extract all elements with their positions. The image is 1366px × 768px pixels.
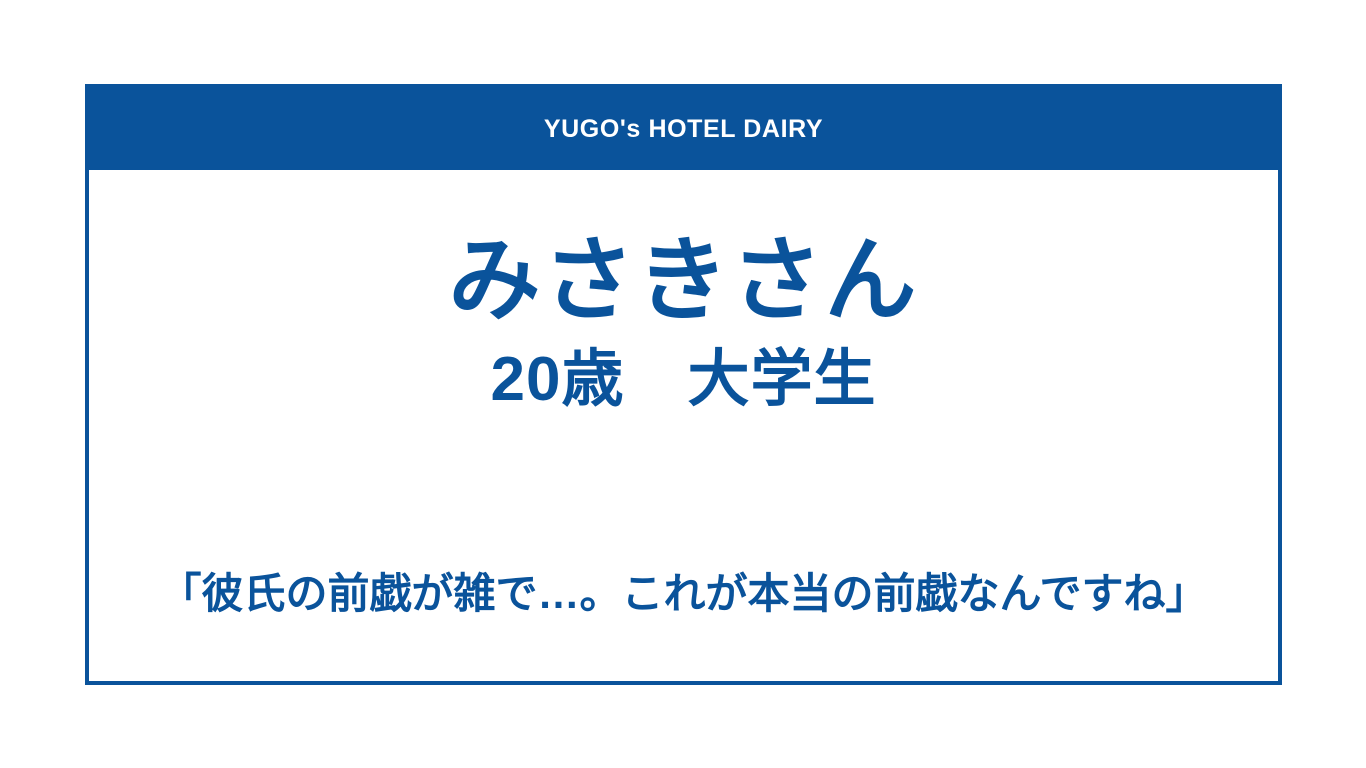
slide-canvas: YUGO's HOTEL DAIRY みさきさん 20歳 大学生 「彼氏の前戯が… <box>0 0 1366 768</box>
profile-name: みさきさん <box>89 232 1278 331</box>
card-body: みさきさん 20歳 大学生 「彼氏の前戯が雑で…。これが本当の前戯なんですね」 <box>89 170 1278 681</box>
card-header-title: YUGO's HOTEL DAIRY <box>544 117 823 142</box>
profile-identity-block: みさきさん 20歳 大学生 <box>89 232 1278 415</box>
profile-age-occupation: 20歳 大学生 <box>89 345 1278 414</box>
profile-card: YUGO's HOTEL DAIRY みさきさん 20歳 大学生 「彼氏の前戯が… <box>85 84 1282 685</box>
card-header-band: YUGO's HOTEL DAIRY <box>89 88 1278 170</box>
profile-quote: 「彼氏の前戯が雑で…。これが本当の前戯なんですね」 <box>89 570 1278 618</box>
